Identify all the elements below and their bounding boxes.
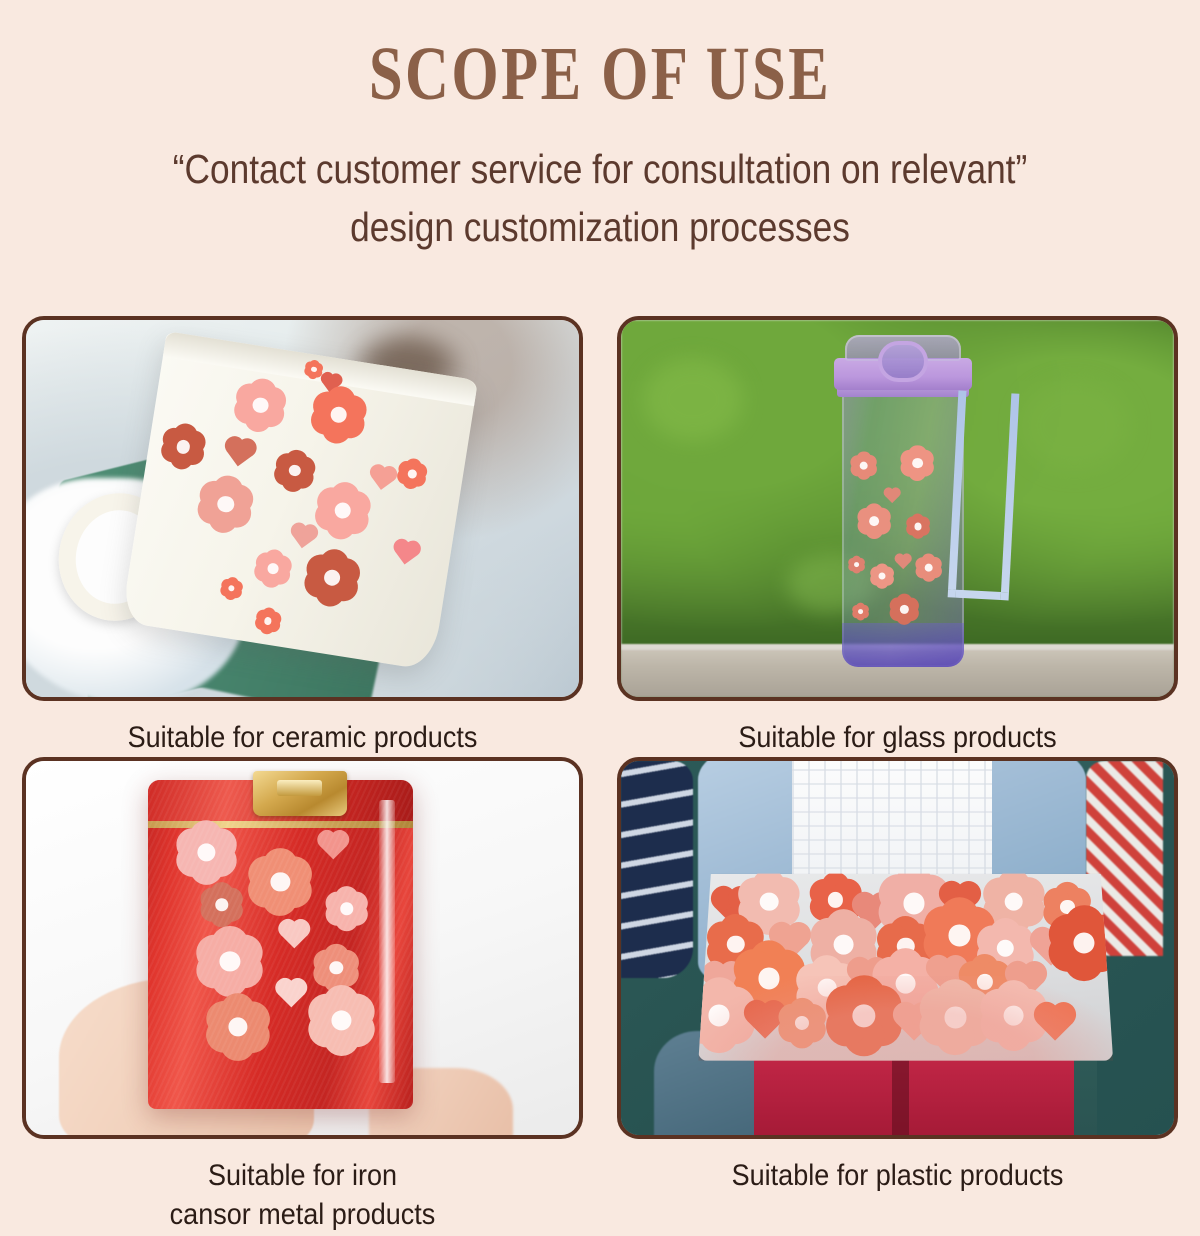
flower-decal (313, 945, 359, 991)
flower-decal (915, 554, 942, 581)
striped-sleeve (621, 761, 693, 978)
bottle-lock-clip (878, 341, 928, 382)
tin-flower-decals (148, 780, 413, 1109)
flower-decal (852, 603, 869, 620)
product-card-grid: Suitable for ceramic products Su (22, 316, 1178, 1234)
product-card-glass[interactable]: Suitable for glass products (617, 316, 1178, 757)
flower-decal (848, 557, 865, 574)
product-card-iron[interactable]: Suitable for iron cansor metal products (22, 757, 583, 1234)
heart-decal (896, 555, 910, 569)
flower-decal (232, 376, 290, 434)
heart-decal (320, 833, 346, 859)
iron-tin-photo (26, 761, 579, 1135)
caption-glass: Suitable for glass products (645, 701, 1150, 757)
tin-highlight (379, 800, 395, 1083)
page-subtitle: “Contact customer service for consultati… (84, 140, 1116, 256)
flower-decal (906, 515, 930, 539)
ceramic-image-frame[interactable] (22, 316, 583, 701)
flower-decal (312, 480, 374, 542)
bottle-flower-decals (842, 392, 964, 667)
flower-decal (196, 928, 263, 995)
iron-image-frame[interactable] (22, 757, 583, 1139)
flower-decal (201, 884, 244, 927)
flower-decal (159, 422, 209, 472)
caption-iron: Suitable for iron cansor metal products (50, 1139, 555, 1234)
tin-gold-band (148, 821, 413, 828)
flower-decal (325, 887, 368, 930)
flower-decal (248, 850, 312, 914)
mug-flower-decals (121, 331, 478, 671)
glass-image-frame[interactable] (617, 316, 1178, 701)
flower-decal (308, 987, 375, 1054)
laptop-glow (698, 976, 1113, 1060)
heart-decal (281, 922, 307, 948)
product-card-ceramic[interactable]: Suitable for ceramic products (22, 316, 583, 757)
flower-decal (253, 606, 282, 635)
flower-decal (870, 564, 894, 588)
product-card-plastic[interactable]: Suitable for plastic products (617, 757, 1178, 1234)
glass-bottle-photo (621, 320, 1174, 697)
heart-decal (227, 440, 253, 466)
flower-decal (206, 995, 270, 1059)
flower-decal (219, 576, 244, 601)
flower-decal (301, 546, 363, 608)
heart-decal (395, 543, 417, 565)
ceramic-mug-body (121, 331, 478, 671)
flower-decal (252, 547, 293, 588)
caption-ceramic: Suitable for ceramic products (50, 701, 555, 757)
heart-decal (293, 526, 315, 548)
glass-bottle-body (842, 392, 964, 667)
flower-decal (176, 822, 237, 883)
bottle-wrist-strap (947, 390, 1019, 600)
red-metal-tin (148, 780, 413, 1109)
flower-decal (889, 594, 918, 623)
caption-plastic: Suitable for plastic products (645, 1139, 1150, 1195)
flower-decal (308, 384, 370, 446)
ceramic-mug-photo (26, 320, 579, 697)
plastic-image-frame[interactable] (617, 757, 1178, 1139)
flower-decal (851, 453, 878, 480)
plastic-laptop-photo (621, 761, 1174, 1135)
heart-decal (372, 467, 394, 489)
flower-decal (901, 446, 935, 480)
gold-clasp-icon (253, 771, 347, 816)
bokeh-spot (643, 358, 743, 441)
flower-decal (857, 504, 891, 538)
heart-decal (278, 981, 304, 1007)
page-title: SCOPE OF USE (120, 36, 1080, 112)
silver-laptop-lid (698, 874, 1113, 1061)
flower-decal (272, 448, 318, 494)
flower-decal (195, 473, 257, 535)
heart-decal (885, 489, 899, 503)
bokeh-spot (1019, 380, 1130, 470)
flower-decal (396, 458, 429, 491)
